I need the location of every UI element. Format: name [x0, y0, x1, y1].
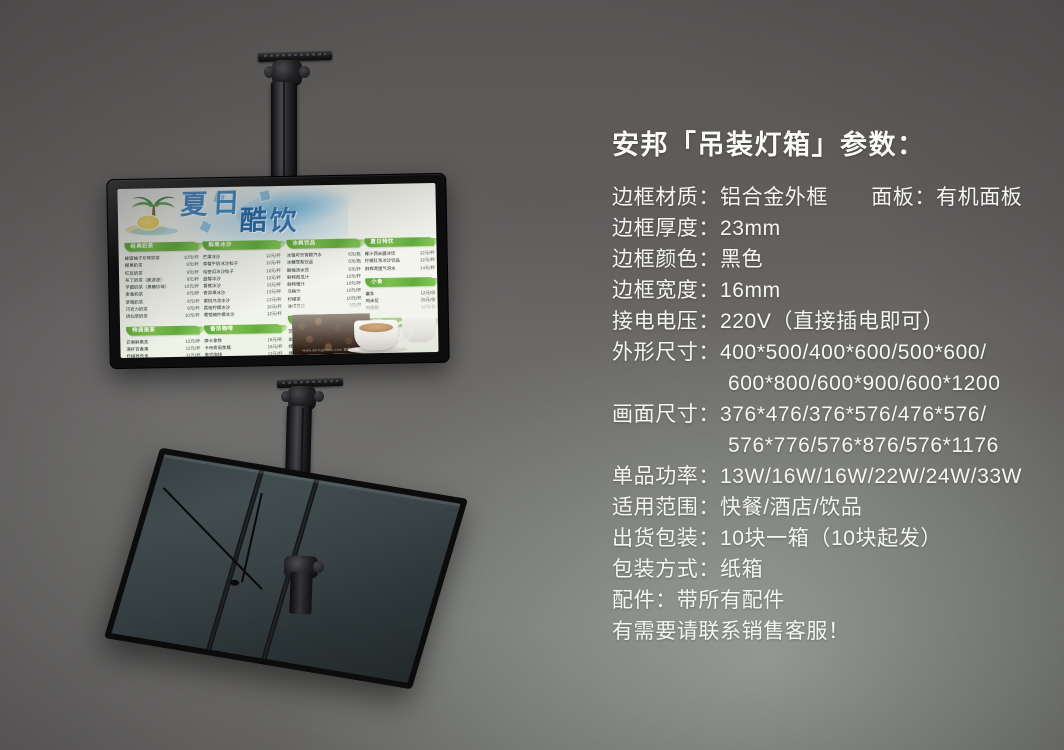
spec-line: 接电电压：220V（直接插电即可）: [612, 306, 1042, 337]
spec-panel: 安邦「吊装灯箱」参数： 边框材质：铝合金外框 面板：有机面板边框厚度：23mm边…: [612, 128, 1042, 647]
spec-line: 边框厚度：23mm: [612, 213, 1042, 244]
spec-line: 边框颜色：黑色: [612, 244, 1042, 275]
spec-title: 安邦「吊装灯箱」参数：: [612, 128, 1042, 162]
spec-line: 600*800/600*900/600*1200: [612, 368, 1042, 399]
spec-line: 边框宽度：16mm: [612, 275, 1042, 306]
spec-line: 外形尺寸：400*500/400*600/500*600/: [612, 337, 1042, 368]
spec-line: 边框材质：铝合金外框 面板：有机面板: [612, 182, 1042, 213]
spec-line: 画面尺寸：376*476/376*576/476*576/: [612, 399, 1042, 430]
product-photo-canvas: 夏 日 酷 饮 经典奶茶蜂蜜柚子珍珠奶茶10元/杯椰果奶茶9元/杯红豆奶茶9元/…: [0, 0, 1064, 750]
spec-line: 单品功率：13W/16W/16W/22W/24W/33W: [612, 461, 1042, 492]
spec-line: 包装方式：纸箱: [612, 554, 1042, 585]
spec-line: 576*776/576*876/576*1176: [612, 430, 1042, 461]
spec-line: 配件：带所有配件: [612, 585, 1042, 616]
spec-list: 边框材质：铝合金外框 面板：有机面板边框厚度：23mm边框颜色：黑色边框宽度：1…: [612, 182, 1042, 647]
spec-line: 出货包装：10块一箱（10块起发）: [612, 523, 1042, 554]
spec-line: 有需要请联系销售客服！: [612, 616, 1042, 647]
spec-line: 适用范围：快餐/酒店/饮品: [612, 492, 1042, 523]
